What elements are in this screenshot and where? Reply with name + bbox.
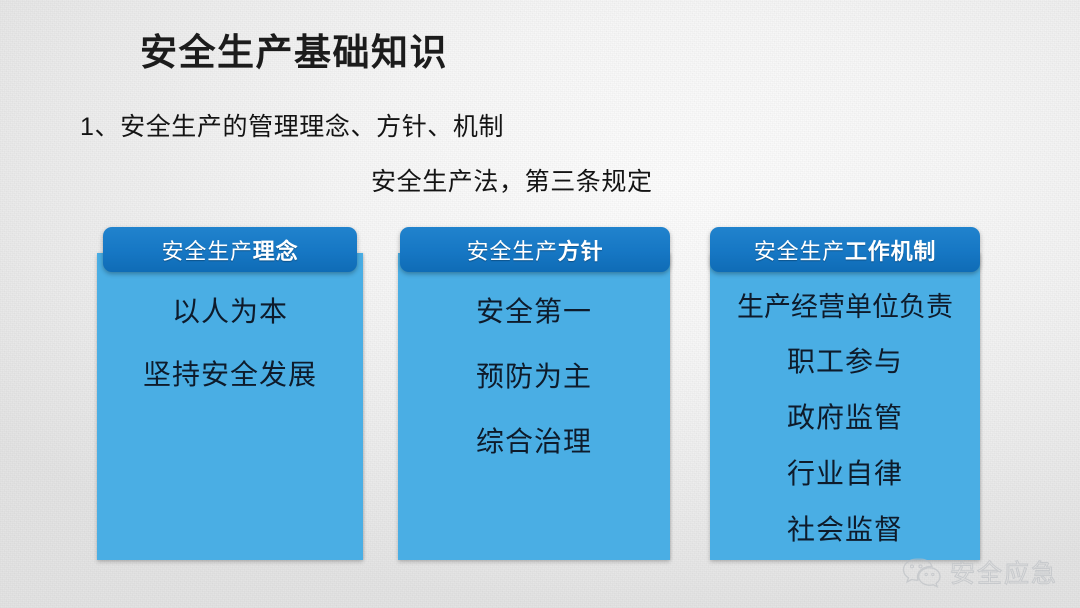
card-header-label-bold: 方针 bbox=[558, 239, 604, 264]
card-line: 社会监督 bbox=[710, 508, 980, 548]
watermark-label: 安全应急 bbox=[950, 554, 1058, 590]
card-line: 生产经营单位负责 bbox=[710, 285, 980, 324]
page-title: 安全生产基础知识 bbox=[140, 22, 448, 76]
card-line-list: 安全第一 预防为主 综合治理 bbox=[398, 290, 670, 485]
card-header-label-bold: 理念 bbox=[253, 239, 299, 264]
card-line: 政府监管 bbox=[710, 396, 980, 436]
card-line: 行业自律 bbox=[710, 452, 980, 492]
slide-canvas: 安全生产基础知识 1、安全生产的管理理念、方针、机制 安全生产法，第三条规定 安… bbox=[0, 0, 1080, 608]
watermark: 安全应急 bbox=[901, 554, 1058, 590]
card-line-list: 生产经营单位负责 职工参与 政府监管 行业自律 社会监督 bbox=[710, 285, 980, 564]
wechat-icon bbox=[901, 556, 941, 588]
card-header-label-normal: 安全生产 bbox=[754, 239, 845, 264]
card-header: 安全生产方针 bbox=[400, 227, 670, 272]
card-header-label-normal: 安全生产 bbox=[467, 239, 558, 264]
card-header: 安全生产工作机制 bbox=[710, 227, 980, 272]
card-line: 坚持安全发展 bbox=[97, 353, 363, 393]
card-header-label: 安全生产工作机制 bbox=[754, 234, 936, 266]
subtitle-line-2: 安全生产法，第三条规定 bbox=[371, 162, 653, 198]
card-header-label-normal: 安全生产 bbox=[162, 239, 253, 264]
subtitle-line-1: 1、安全生产的管理理念、方针、机制 bbox=[80, 107, 504, 143]
card-line: 综合治理 bbox=[398, 420, 670, 460]
card-line: 以人为本 bbox=[97, 290, 363, 330]
card-line-list: 以人为本 坚持安全发展 bbox=[97, 290, 363, 416]
card-line: 预防为主 bbox=[398, 355, 670, 395]
card-header-label-bold: 工作机制 bbox=[845, 239, 936, 264]
card-line: 职工参与 bbox=[710, 340, 980, 380]
card-header: 安全生产理念 bbox=[103, 227, 357, 272]
card-header-label: 安全生产方针 bbox=[467, 234, 604, 266]
card-header-label: 安全生产理念 bbox=[162, 234, 299, 266]
card-line: 安全第一 bbox=[398, 290, 670, 330]
